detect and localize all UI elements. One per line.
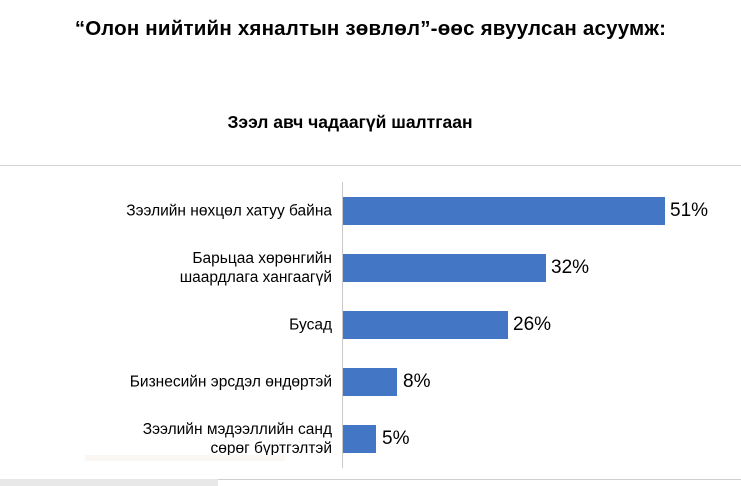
bar-0[interactable]: [343, 197, 665, 225]
category-label: Бусад: [2, 315, 332, 334]
bar-value-4: 5%: [382, 428, 409, 450]
chart-container: Зээл авч чадаагүй шалтгаан Зээлийн нөхцө…: [0, 96, 741, 486]
bar-3[interactable]: [343, 368, 397, 396]
chart-plot-area: Зээлийн нөхцөл хатуу байна 51% Барьцаа х…: [0, 182, 741, 467]
category-label: Барьцаа хөрөнгийн шаардлага хангаагүй: [2, 249, 332, 287]
bar-value-3: 8%: [403, 371, 430, 393]
slide-canvas: “Олон нийтийн хяналтын зөвлөл”-өөс явуул…: [0, 0, 741, 486]
chart-top-divider: [0, 165, 741, 166]
bar-value-1: 32%: [551, 257, 589, 279]
bar-4[interactable]: [343, 425, 376, 453]
chart-row: Зээлийн нөхцөл хатуу байна 51%: [0, 182, 741, 239]
category-label: Бизнесийн эрсдэл өндөртэй: [2, 372, 332, 391]
bottom-tab-strip: [0, 479, 218, 486]
bar-1[interactable]: [343, 254, 546, 282]
bar-2[interactable]: [343, 311, 508, 339]
category-label: Зээлийн нөхцөл хатуу байна: [2, 201, 332, 220]
chart-row: Бусад 26%: [0, 296, 741, 353]
chart-row: Бизнесийн эрсдэл өндөртэй 8%: [0, 353, 741, 410]
background-artifact: [85, 455, 285, 461]
chart-title: Зээл авч чадаагүй шалтгаан: [0, 112, 700, 133]
category-label: Зээлийн мэдээллийн санд сөрөг бүртгэлтэй: [2, 420, 332, 458]
bar-value-0: 51%: [670, 200, 708, 222]
bar-value-2: 26%: [513, 314, 551, 336]
page-title: “Олон нийтийн хяналтын зөвлөл”-өөс явуул…: [0, 17, 741, 41]
chart-row: Барьцаа хөрөнгийн шаардлага хангаагүй 32…: [0, 239, 741, 296]
